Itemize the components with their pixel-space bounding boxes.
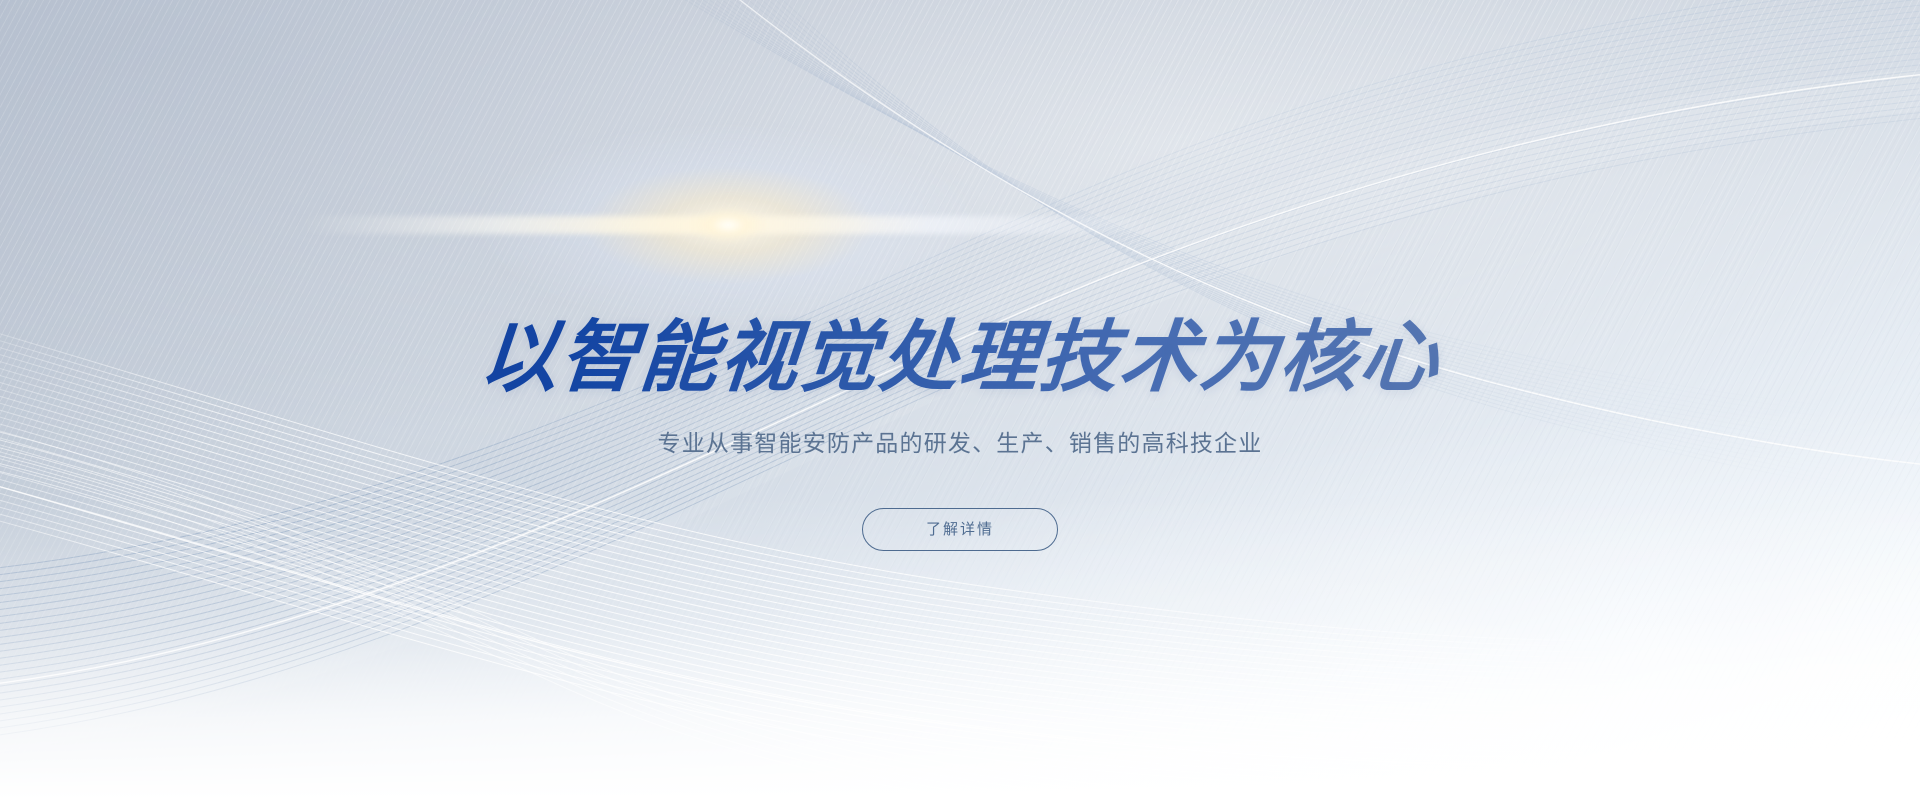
page-title: 以智能视觉处理技术为核心 [0,310,1920,406]
hero-content: 以智能视觉处理技术为核心 专业从事智能安防产品的研发、生产、销售的高科技企业 了… [0,0,1920,800]
learn-more-button[interactable]: 了解详情 [862,508,1058,551]
hero-subtitle: 专业从事智能安防产品的研发、生产、销售的高科技企业 [0,427,1920,461]
hero-banner: 以智能视觉处理技术为核心 专业从事智能安防产品的研发、生产、销售的高科技企业 了… [0,0,1920,800]
